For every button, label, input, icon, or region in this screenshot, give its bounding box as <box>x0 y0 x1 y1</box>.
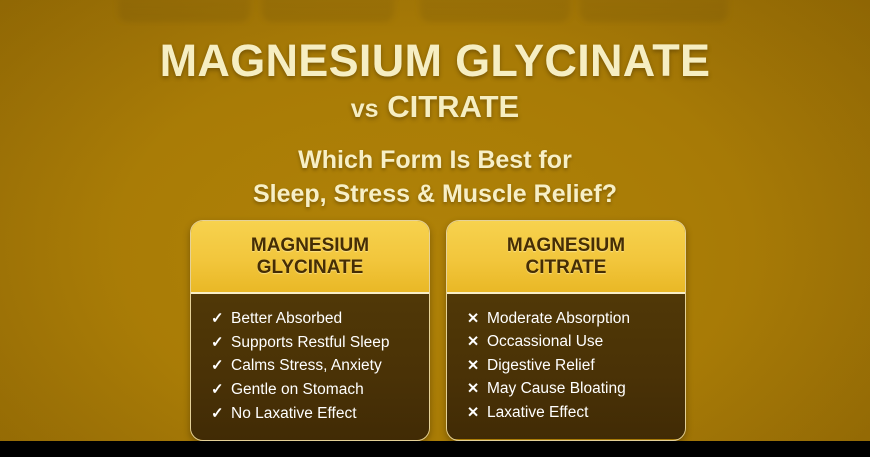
question-heading: Which Form Is Best for Sleep, Stress & M… <box>0 143 870 212</box>
comparison-cards: MAGNESIUM GLYCINATE ✓ Better Absorbed ✓ … <box>190 220 686 441</box>
list-item-label: Gentle on Stomach <box>231 378 364 402</box>
list-item: ✓ Supports Restful Sleep <box>211 331 419 355</box>
top-thumbnail-tile <box>262 0 394 22</box>
vs-label: vs <box>351 95 379 123</box>
check-icon: ✓ <box>211 332 228 355</box>
top-thumbnail-tile <box>420 0 570 22</box>
list-item-label: Moderate Absorption <box>487 307 630 331</box>
question-line-2: Sleep, Stress & Muscle Relief? <box>0 177 870 211</box>
card-body-citrate: ✕ Moderate Absorption ✕ Occassional Use … <box>447 292 685 439</box>
list-item: ✕ Occassional Use <box>467 330 675 354</box>
card-magnesium-citrate: MAGNESIUM CITRATE ✕ Moderate Absorption … <box>446 220 686 441</box>
list-item: ✓ Better Absorbed <box>211 307 419 331</box>
page-title: MAGNESIUM GLYCINATE <box>0 38 870 83</box>
list-item: ✓ Gentle on Stomach <box>211 378 419 402</box>
cross-icon: ✕ <box>467 355 484 377</box>
list-item: ✓ Calms Stress, Anxiety <box>211 354 419 378</box>
card-header-citrate: MAGNESIUM CITRATE <box>447 221 685 292</box>
card-header-line-2: CITRATE <box>453 257 679 279</box>
check-icon: ✓ <box>211 308 228 331</box>
card-header-line-2: GLYCINATE <box>197 257 423 279</box>
top-thumbnail-tile <box>580 0 728 22</box>
headings-block: MAGNESIUM GLYCINATE vs CITRATE Which For… <box>0 38 870 212</box>
feature-list-citrate: ✕ Moderate Absorption ✕ Occassional Use … <box>447 307 685 425</box>
comparison-subject-label: CITRATE <box>387 89 519 124</box>
cross-icon: ✕ <box>467 331 484 353</box>
list-item: ✕ May Cause Bloating <box>467 377 675 401</box>
top-thumbnail-tile <box>118 0 250 22</box>
list-item-label: Better Absorbed <box>231 307 342 331</box>
check-icon: ✓ <box>211 355 228 378</box>
list-item: ✕ Laxative Effect <box>467 401 675 425</box>
check-icon: ✓ <box>211 379 228 402</box>
card-header-line-1: MAGNESIUM <box>197 235 423 257</box>
list-item: ✓ No Laxative Effect <box>211 402 419 426</box>
infographic-canvas: MAGNESIUM GLYCINATE vs CITRATE Which For… <box>0 0 870 457</box>
cross-icon: ✕ <box>467 402 484 424</box>
check-icon: ✓ <box>211 403 228 426</box>
question-line-1: Which Form Is Best for <box>0 143 870 177</box>
cross-icon: ✕ <box>467 308 484 330</box>
list-item-label: Digestive Relief <box>487 354 595 378</box>
list-item-label: Calms Stress, Anxiety <box>231 354 382 378</box>
top-thumbnail-strip <box>0 0 870 26</box>
list-item-label: No Laxative Effect <box>231 402 357 426</box>
list-item: ✕ Digestive Relief <box>467 354 675 378</box>
cross-icon: ✕ <box>467 378 484 400</box>
list-item-label: Laxative Effect <box>487 401 588 425</box>
page-subtitle: vs CITRATE <box>0 91 870 122</box>
list-item-label: Supports Restful Sleep <box>231 331 390 355</box>
list-item: ✕ Moderate Absorption <box>467 307 675 331</box>
card-header-glycinate: MAGNESIUM GLYCINATE <box>191 221 429 292</box>
list-item-label: May Cause Bloating <box>487 377 626 401</box>
feature-list-glycinate: ✓ Better Absorbed ✓ Supports Restful Sle… <box>191 307 429 426</box>
bottom-letterbox-bar <box>0 441 870 457</box>
card-magnesium-glycinate: MAGNESIUM GLYCINATE ✓ Better Absorbed ✓ … <box>190 220 430 441</box>
card-header-line-1: MAGNESIUM <box>453 235 679 257</box>
card-body-glycinate: ✓ Better Absorbed ✓ Supports Restful Sle… <box>191 292 429 440</box>
list-item-label: Occassional Use <box>487 330 603 354</box>
